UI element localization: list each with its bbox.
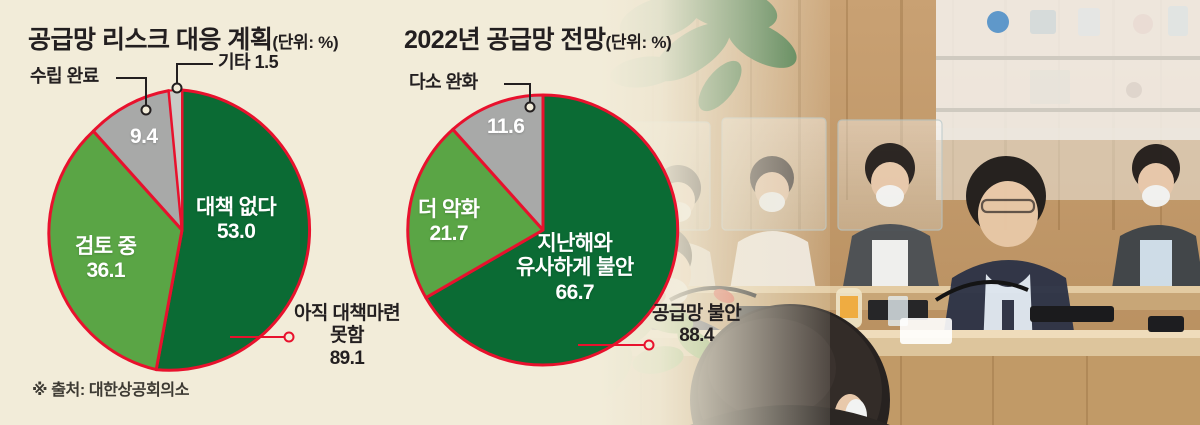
chart2-slice-name-line2: 유사하게 불안 [516,256,634,280]
chart1-slice-label-reviewing: 검토 중 36.1 [75,235,136,284]
chart1-callout: 아직 대책마련 못함 89.1 [294,303,400,370]
chart1-callout-value: 89.1 [294,348,400,370]
chart2-label-ease: 다소 완화 [409,68,478,94]
pie1-leader-etc [173,64,214,93]
chart2-slice-name-line1: 지난해와 [516,232,634,256]
chart2-title-main: 2022년 공급망 전망 [404,26,606,54]
chart1-label-established: 수립 완료 [30,62,99,88]
chart2-slice-label-worse: 더 악화 21.7 [418,198,479,247]
chart2-callout: 공급망 불안 88.4 [652,303,741,348]
chart1-slice-value-established: 9.4 [130,125,157,149]
chart2-title: 2022년 공급망 전망(단위: %) [404,20,672,56]
chart2-slice-label-similar-unstable: 지난해와 유사하게 불안 66.7 [516,232,634,305]
chart1-slice-value-no-measure: 53.0 [196,220,276,244]
chart2-callout-value: 88.4 [652,325,741,347]
chart1-title-unit: (단위: %) [272,33,338,52]
chart1-title: 공급망 리스크 대응 계획(단위: %) [28,20,338,56]
chart1-slice-name-no-measure: 대책 없다 [196,196,276,220]
chart2-title-unit: (단위: %) [606,33,672,52]
chart1-slice-value-reviewing: 36.1 [75,259,136,283]
infographic-canvas: 공급망 리스크 대응 계획(단위: %) 2022년 공급망 전망(단위: %)… [0,0,1200,425]
source-note: ※ 출처: 대한상공회의소 [32,376,189,400]
chart1-label-etc: 기타 1.5 [218,48,278,74]
chart2-callout-line1: 공급망 불안 [652,303,741,325]
chart1-callout-line1: 아직 대책마련 [294,303,400,325]
chart2-slice-value-ease: 11.6 [487,115,524,139]
chart2-slice-name-worse: 더 악화 [418,198,479,222]
chart1-slice-label-no-measure: 대책 없다 53.0 [196,196,276,245]
chart2-slice-value-worse: 21.7 [418,222,479,246]
chart2-slice-value-similar-unstable: 66.7 [516,281,634,305]
chart1-slice-name-reviewing: 검토 중 [75,235,136,259]
chart1-callout-line2: 못함 [294,325,400,347]
